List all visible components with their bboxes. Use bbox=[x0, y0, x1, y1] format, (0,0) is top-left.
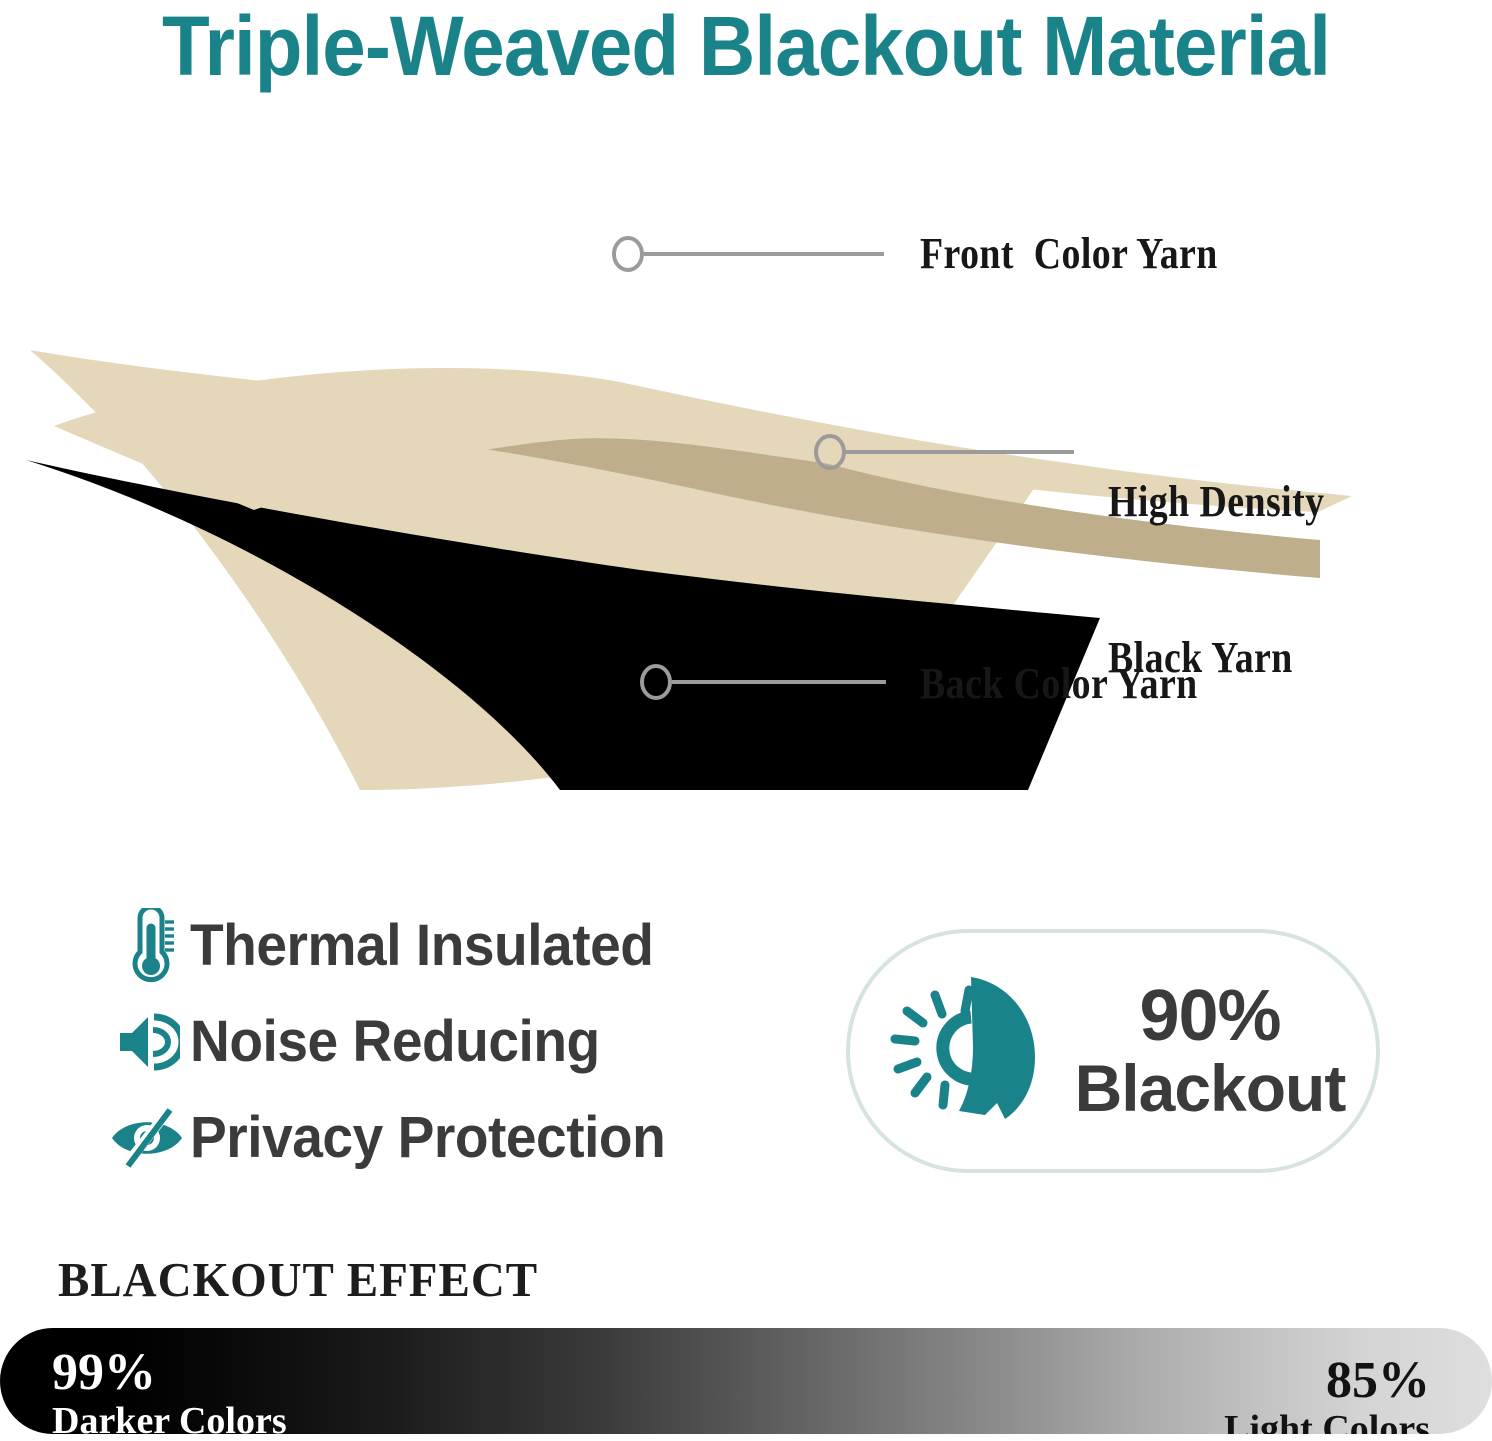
sun-blocked-icon bbox=[850, 973, 1060, 1129]
badge-percent: 90% bbox=[1060, 979, 1360, 1053]
callout-label-high-density: High Density Black Yarn bbox=[1108, 372, 1324, 788]
badge-text-group: 90% Blackout bbox=[1060, 979, 1376, 1123]
blackout-badge: 90% Blackout bbox=[846, 929, 1380, 1173]
callout-label-back: Back Color Yarn bbox=[920, 658, 1198, 710]
callout-label-high-density-line1: High Density bbox=[1108, 476, 1324, 528]
page-title: Triple-Weaved Blackout Material bbox=[52, 0, 1440, 96]
feature-label-privacy-protection: Privacy Protection bbox=[190, 1107, 665, 1169]
blackout-effect-left-stat: 99% Darker Colors bbox=[52, 1346, 287, 1434]
feature-item-privacy-protection: Privacy Protection bbox=[104, 1090, 824, 1186]
blackout-effect-heading: BLACKOUT EFFECT bbox=[58, 1252, 538, 1308]
blackout-effect-right-stat: 85% Light Colors bbox=[1224, 1354, 1430, 1434]
badge-word: Blackout bbox=[1060, 1053, 1360, 1123]
blackout-effect-gradient-bar: 99% Darker Colors 85% Light Colors bbox=[0, 1328, 1492, 1434]
blackout-effect-left-caption: Darker Colors bbox=[52, 1400, 287, 1434]
thermometer-icon bbox=[104, 908, 190, 984]
fabric-layers-diagram: Front Color Yarn High Density Black Yarn… bbox=[0, 150, 1492, 790]
blackout-effect-right-percent: 85% bbox=[1224, 1354, 1430, 1408]
feature-item-noise-reducing: Noise Reducing bbox=[104, 994, 824, 1090]
eye-slash-icon bbox=[104, 1107, 190, 1169]
callout-label-front: Front Color Yarn bbox=[920, 228, 1218, 280]
callout-dot-front bbox=[614, 238, 642, 270]
feature-label-noise-reducing: Noise Reducing bbox=[190, 1011, 600, 1073]
feature-item-thermal-insulated: Thermal Insulated bbox=[104, 898, 824, 994]
feature-label-thermal-insulated: Thermal Insulated bbox=[190, 915, 653, 977]
feature-list: Thermal Insulated Noise Reducing bbox=[104, 898, 824, 1186]
speaker-icon bbox=[104, 1011, 190, 1073]
blackout-effect-left-percent: 99% bbox=[52, 1346, 287, 1400]
blackout-effect-right-caption: Light Colors bbox=[1224, 1408, 1430, 1434]
